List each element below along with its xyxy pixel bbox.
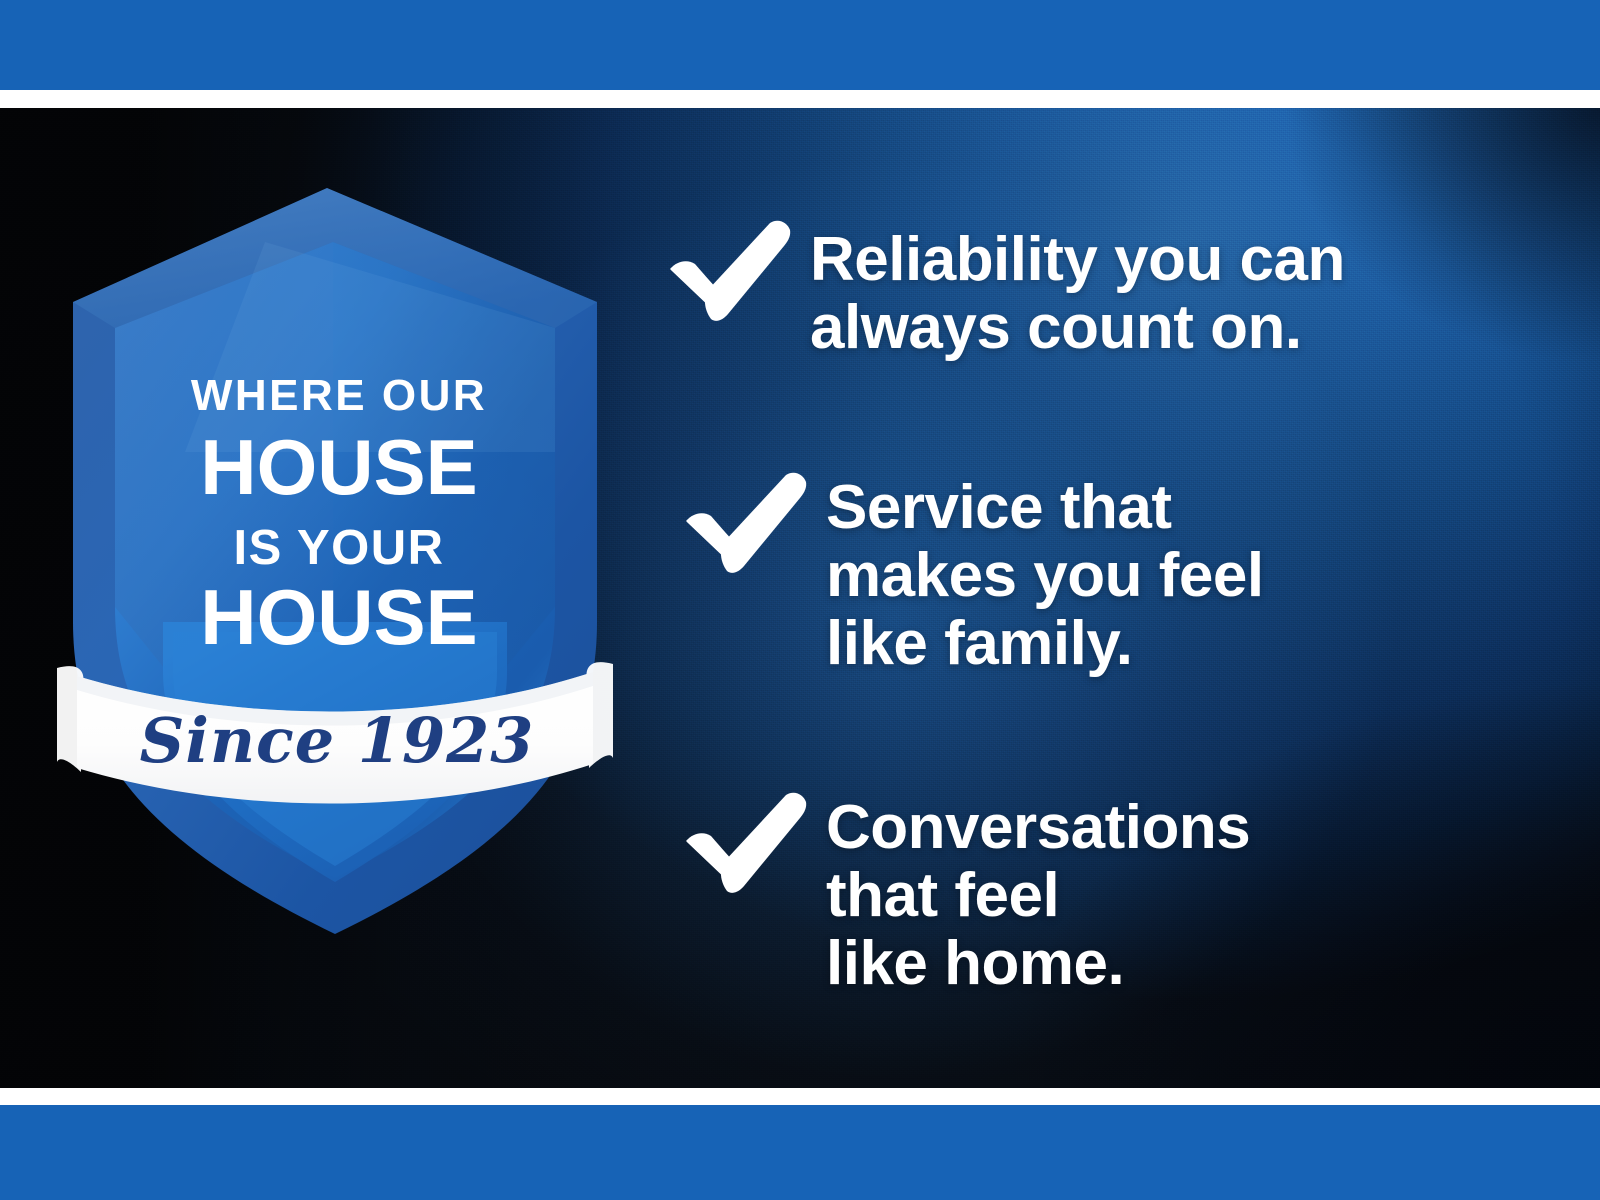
- bottom-band-divider: [0, 1088, 1600, 1105]
- benefit-text-3: Conversations that feel like home.: [826, 788, 1250, 999]
- benefit-item-1: Reliability you can always count on.: [664, 216, 1345, 362]
- bottom-brand-band: [0, 1105, 1600, 1200]
- benefit-text-2: Service that makes you feel like family.: [826, 468, 1264, 679]
- shield-line-3: IS YOUR: [233, 521, 444, 575]
- benefit-item-3: Conversations that feel like home.: [680, 788, 1250, 999]
- ribbon-label: Since 1923: [140, 704, 535, 777]
- checkmark-icon: [680, 468, 812, 590]
- benefit-item-2: Service that makes you feel like family.: [680, 468, 1264, 679]
- checkmark-icon: [664, 216, 796, 338]
- top-brand-band: [0, 0, 1600, 90]
- shield-line-4: HOUSE: [200, 573, 477, 661]
- top-band-divider: [0, 90, 1600, 108]
- shield-line-2: HOUSE: [200, 423, 477, 511]
- promo-graphic: WHERE OUR HOUSE IS YOUR HOUSE Since 1923: [0, 0, 1600, 1200]
- shield-emblem: WHERE OUR HOUSE IS YOUR HOUSE Since 1923: [55, 152, 615, 952]
- shield-line-1: WHERE OUR: [191, 371, 487, 420]
- benefit-text-1: Reliability you can always count on.: [810, 216, 1345, 362]
- checkmark-icon: [680, 788, 812, 910]
- benefits-list: Reliability you can always count on. Ser…: [664, 108, 1524, 1088]
